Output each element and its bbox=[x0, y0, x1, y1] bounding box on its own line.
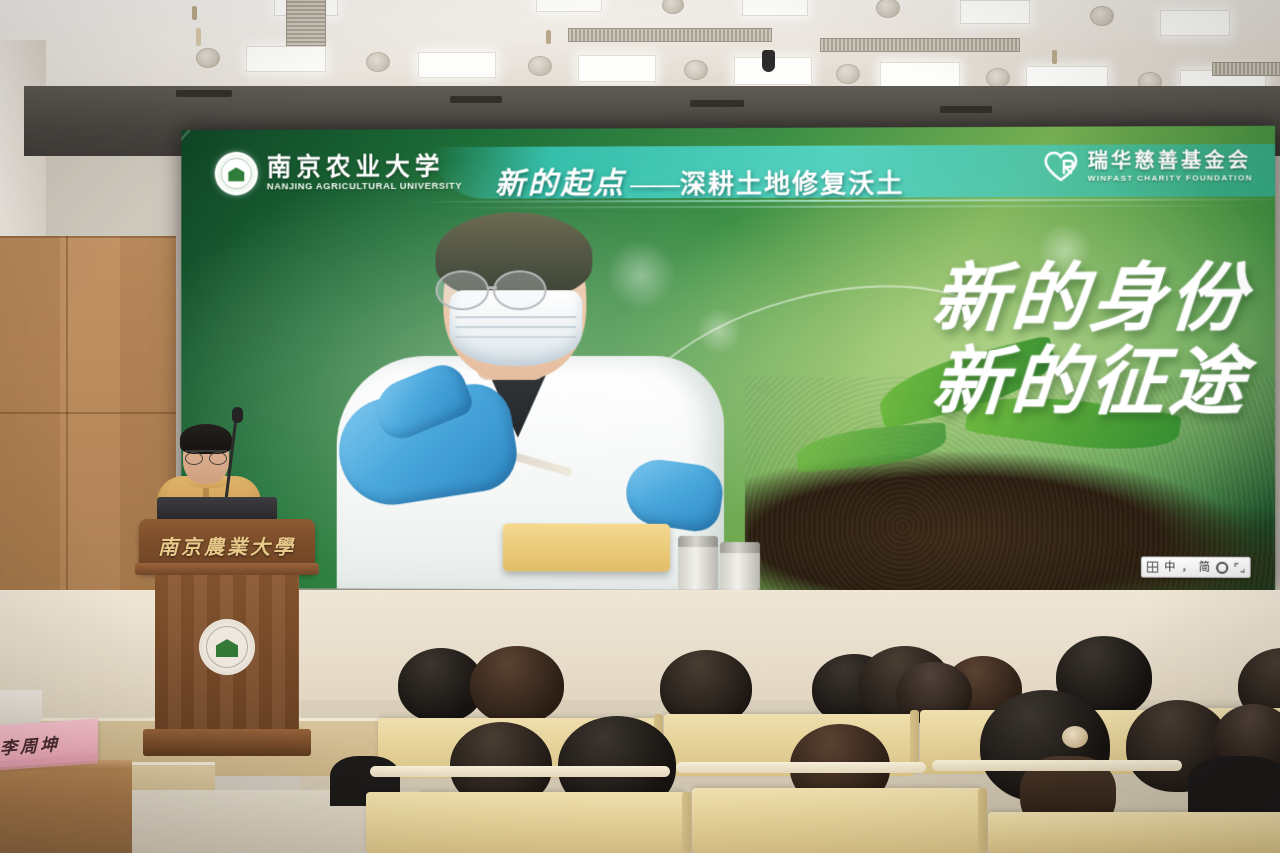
ceiling-speaker-icon bbox=[528, 56, 552, 76]
eyeglasses-bridge bbox=[487, 286, 497, 289]
keyboard-grid-icon[interactable] bbox=[1147, 561, 1158, 572]
sprinkler-icon bbox=[196, 28, 201, 46]
seat-rail bbox=[932, 760, 1182, 771]
slide-subtitle-script: 新的起点 bbox=[495, 158, 626, 202]
sprinkler-icon bbox=[546, 30, 551, 44]
seat-row[interactable] bbox=[988, 812, 1280, 853]
podium-base bbox=[143, 729, 311, 756]
ceiling-speaker-icon bbox=[1090, 6, 1114, 26]
university-seal-icon bbox=[215, 152, 258, 196]
university-logo: 南京农业大学 NANJING AGRICULTURAL UNIVERSITY bbox=[215, 151, 462, 196]
heart-r-logo-icon bbox=[1043, 151, 1079, 183]
eyeglasses-icon bbox=[493, 270, 547, 310]
expand-icon[interactable] bbox=[1234, 562, 1244, 572]
ceiling-speaker-icon bbox=[836, 64, 860, 84]
chinese-mode-icon[interactable]: 中 bbox=[1164, 562, 1175, 573]
podium-lip bbox=[135, 563, 319, 575]
seat-row[interactable] bbox=[692, 788, 982, 853]
hvac-vent-icon bbox=[286, 0, 326, 46]
university-name-cn: 南京农业大学 bbox=[267, 154, 462, 181]
wood-panel-seam bbox=[0, 236, 176, 238]
panel-light-icon bbox=[960, 0, 1030, 24]
wood-panel-seam bbox=[0, 412, 176, 414]
slide-subtitle-dash: —— bbox=[630, 169, 678, 200]
panel-light-icon bbox=[418, 52, 496, 78]
valance-bracket bbox=[940, 106, 992, 113]
panel-light-icon bbox=[536, 0, 602, 12]
university-name-en: NANJING AGRICULTURAL UNIVERSITY bbox=[267, 182, 462, 192]
eyeglasses-icon bbox=[436, 270, 489, 310]
seat-divider bbox=[978, 788, 987, 853]
hvac-vent-icon bbox=[1212, 62, 1280, 76]
sample-jar-icon bbox=[720, 542, 760, 590]
ime-toolbar[interactable]: 中 ， 简 bbox=[1141, 556, 1251, 578]
photo-scene: 南京农业大学 NANJING AGRICULTURAL UNIVERSITY 新… bbox=[0, 0, 1280, 853]
foundation-name-cn: 瑞华慈善基金会 bbox=[1088, 150, 1253, 172]
panel-light-icon bbox=[246, 46, 326, 72]
valance-bracket bbox=[176, 90, 232, 97]
sprinkler-icon bbox=[192, 6, 197, 20]
slide-headline-line2: 新的征途 bbox=[930, 341, 1252, 425]
ceiling-speaker-icon bbox=[366, 52, 390, 72]
slide-subtitle: 新的起点 —— 深耕土地修复沃土 bbox=[495, 157, 905, 202]
slide-header: 南京农业大学 NANJING AGRICULTURAL UNIVERSITY 新… bbox=[181, 142, 1275, 209]
podium: 南京農業大學 bbox=[139, 519, 315, 756]
panel-light-icon bbox=[742, 0, 808, 16]
slide-subtitle-main: 深耕土地修复沃土 bbox=[680, 163, 904, 201]
university-name-block: 南京农业大学 NANJING AGRICULTURAL UNIVERSITY bbox=[267, 154, 462, 193]
ceiling-speaker-icon bbox=[684, 60, 708, 80]
foundation-name-block: 瑞华慈善基金会 WINFAST CHARITY FOUNDATION bbox=[1088, 150, 1253, 183]
yellow-tray-icon bbox=[503, 523, 670, 571]
security-camera-icon bbox=[762, 50, 775, 72]
simplified-mode-icon[interactable]: 简 bbox=[1199, 562, 1210, 573]
podium-plaque-text: 南京農業大學 bbox=[139, 531, 315, 560]
hvac-vent-icon bbox=[820, 38, 1020, 52]
seat-row[interactable] bbox=[366, 792, 686, 853]
valance-bracket bbox=[450, 96, 502, 103]
audience-shoulder bbox=[1188, 756, 1280, 816]
front-table bbox=[0, 760, 132, 853]
slide-headline: 新的身份 新的征途 bbox=[933, 257, 1249, 424]
panel-light-icon bbox=[1160, 10, 1230, 36]
slide-researcher-photo bbox=[329, 206, 756, 590]
audience-head bbox=[470, 646, 564, 724]
hair-scrunchie bbox=[1062, 726, 1088, 748]
panel-light-icon bbox=[578, 55, 656, 82]
slide-headline-line1: 新的身份 bbox=[930, 257, 1252, 341]
microphone-icon bbox=[232, 407, 243, 423]
projection-screen: 南京农业大学 NANJING AGRICULTURAL UNIVERSITY 新… bbox=[181, 126, 1275, 592]
eyeglasses-icon bbox=[185, 450, 227, 461]
ceiling-speaker-icon bbox=[196, 48, 220, 68]
university-emblem-icon bbox=[199, 619, 255, 675]
foundation-logo: 瑞华慈善基金会 WINFAST CHARITY FOUNDATION bbox=[1043, 150, 1252, 183]
ceiling bbox=[0, 0, 1280, 95]
sprinkler-icon bbox=[1052, 50, 1057, 64]
seat-rail bbox=[370, 766, 670, 777]
seat-divider bbox=[682, 792, 691, 853]
foundation-name-en: WINFAST CHARITY FOUNDATION bbox=[1088, 174, 1253, 183]
hvac-vent-icon bbox=[568, 28, 772, 42]
ceiling-speaker-icon bbox=[986, 68, 1010, 88]
punctuation-icon[interactable]: ， bbox=[1182, 562, 1193, 573]
sample-jar-icon bbox=[678, 536, 718, 590]
name-card-text: 李周坤 bbox=[0, 730, 60, 759]
seat-rail bbox=[676, 762, 926, 773]
valance-bracket bbox=[690, 100, 744, 107]
gear-icon[interactable] bbox=[1216, 561, 1228, 573]
